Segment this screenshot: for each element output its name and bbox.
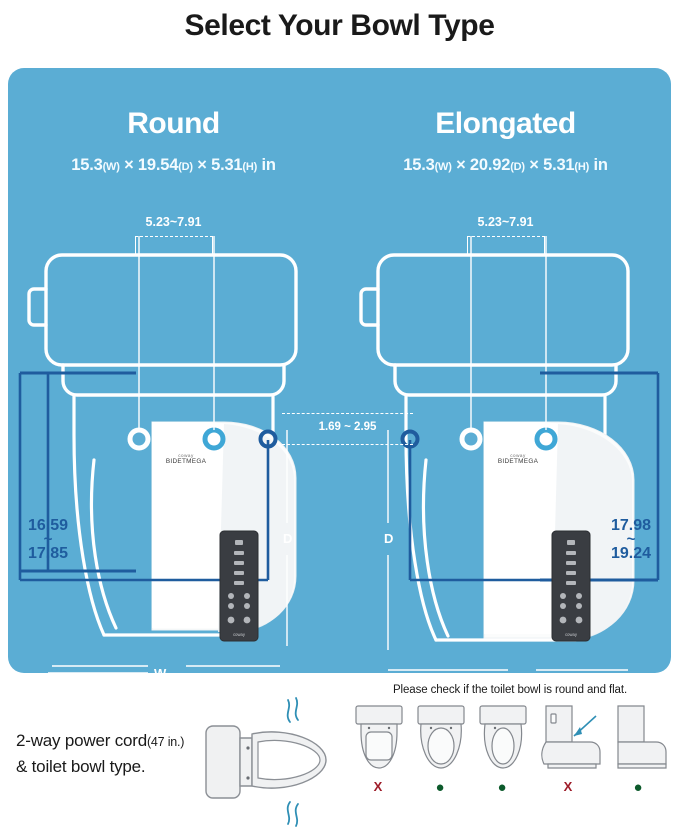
bowl-example-elongated xyxy=(480,706,526,768)
depth-label-elongated: D xyxy=(384,531,393,546)
center-gap-line-top xyxy=(282,413,413,414)
cord-line1: 2-way power cord xyxy=(16,731,147,750)
bowl-example-side-flat xyxy=(618,706,666,768)
power-cord-note: 2-way power cord(47 in.) & toilet bowl t… xyxy=(16,728,226,781)
center-gap-line-bottom xyxy=(282,444,413,445)
toilet-top-view-diagram xyxy=(198,690,338,830)
bowl-example-side-angled xyxy=(542,706,600,768)
bowl-mark-5: ● xyxy=(615,779,661,796)
product-brand-elongated: coway BIDETMEGA xyxy=(486,453,550,466)
remote-control-elongated[interactable]: coway xyxy=(551,530,591,642)
svg-text:coway: coway xyxy=(233,632,246,637)
toilet-diagram-elongated xyxy=(340,68,671,673)
bowl-mark-2: ● xyxy=(417,779,463,796)
remote-control-round[interactable]: coway xyxy=(219,530,259,642)
toilet-diagram-round xyxy=(8,68,339,673)
height-range-bottom-round: 17.85 xyxy=(28,545,68,562)
brand-bidetmega-elongated: BIDETMEGA xyxy=(486,458,550,465)
width-label-elongated: W xyxy=(520,671,532,673)
bowl-option-round[interactable]: Round 15.3(W) × 19.54(D) × 5.31(H) in 5.… xyxy=(8,68,339,673)
pointer-arrowhead-icon xyxy=(574,727,582,736)
product-brand-round: coway BIDETMEGA xyxy=(154,453,218,466)
cord-line2: & toilet bowl type. xyxy=(16,757,145,776)
height-range-bottom-elongated: 19.24 xyxy=(611,545,651,562)
height-range-elongated: 17.98 ~ 19.24 xyxy=(598,518,664,563)
bowl-mark-1: X xyxy=(355,779,401,794)
width-label-round: W xyxy=(154,666,166,673)
bowl-example-square xyxy=(356,706,402,768)
bowl-mark-3: ● xyxy=(479,779,525,796)
page-title: Select Your Bowl Type xyxy=(0,0,679,52)
bowl-option-elongated[interactable]: Elongated 15.3(W) × 20.92(D) × 5.31(H) i… xyxy=(340,68,671,673)
center-gap-value: 1.69 ~ 2.95 xyxy=(282,421,413,433)
bowl-shape-examples xyxy=(352,702,668,782)
cord-length: (47 in.) xyxy=(147,735,184,749)
bowl-comparison-panel: Round 15.3(W) × 19.54(D) × 5.31(H) in 5.… xyxy=(8,68,671,673)
bowl-check-instruction: Please check if the toilet bowl is round… xyxy=(355,684,665,696)
bowl-example-round xyxy=(418,706,464,768)
height-range-round: 16.59 ~ 17.85 xyxy=(16,518,80,563)
bowl-mark-4: X xyxy=(545,779,591,794)
bottom-info-section: 2-way power cord(47 in.) & toilet bowl t… xyxy=(0,676,679,837)
center-gap-dimension: 1.69 ~ 2.95 xyxy=(282,413,413,447)
brand-bidetmega-round: BIDETMEGA xyxy=(154,458,218,465)
depth-label-round: D xyxy=(283,531,292,546)
svg-text:coway: coway xyxy=(565,632,578,637)
